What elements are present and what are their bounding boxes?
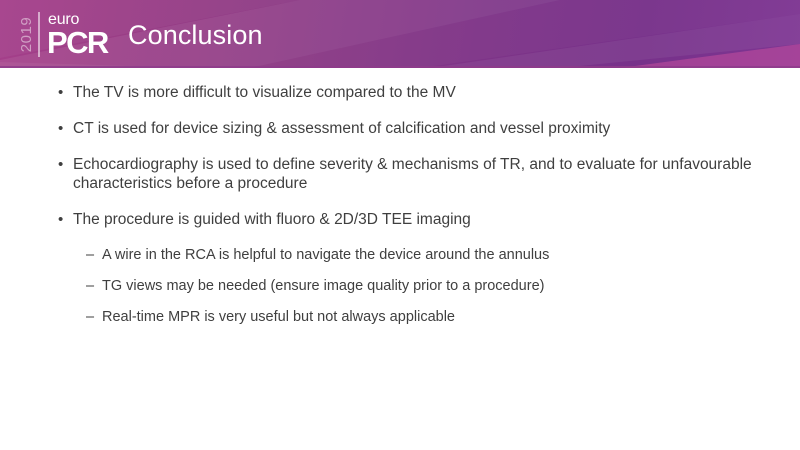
bullet-text: TG views may be needed (ensure image qua… xyxy=(102,277,758,295)
sub-bullet-item: –TG views may be needed (ensure image qu… xyxy=(86,277,758,295)
logo-year-label: 2019 xyxy=(18,16,35,51)
dash-marker-icon: – xyxy=(86,246,102,264)
sub-bullet-item: –Real-time MPR is very useful but not al… xyxy=(86,308,758,326)
logo-wordmark: euro PCR xyxy=(47,6,108,62)
logo-year: 2019 xyxy=(16,6,37,62)
slide-header-banner: 2019 euro PCR Conclusion xyxy=(0,0,800,68)
logo-pcr-text: PCR xyxy=(47,28,108,57)
bullet-text: Echocardiography is used to define sever… xyxy=(73,155,758,193)
bullet-text: The procedure is guided with fluoro & 2D… xyxy=(73,210,758,229)
bullet-text: A wire in the RCA is helpful to navigate… xyxy=(102,246,758,264)
bullet-item: •The TV is more difficult to visualize c… xyxy=(58,83,758,102)
bullet-marker-icon: • xyxy=(58,119,73,138)
bullet-item: •The procedure is guided with fluoro & 2… xyxy=(58,210,758,229)
bullet-marker-icon: • xyxy=(58,83,73,102)
bullet-marker-icon: • xyxy=(58,155,73,174)
bullet-text: CT is used for device sizing & assessmen… xyxy=(73,119,758,138)
bullet-list: •The TV is more difficult to visualize c… xyxy=(58,83,758,339)
bullet-marker-icon: • xyxy=(58,210,73,229)
europcr-logo: 2019 euro PCR xyxy=(16,6,108,62)
dash-marker-icon: – xyxy=(86,308,102,326)
logo-divider-rule xyxy=(38,12,40,57)
bullet-item: •CT is used for device sizing & assessme… xyxy=(58,119,758,138)
slide-title: Conclusion xyxy=(128,19,263,51)
dash-marker-icon: – xyxy=(86,277,102,295)
sub-bullet-item: –A wire in the RCA is helpful to navigat… xyxy=(86,246,758,264)
slide: 2019 euro PCR Conclusion •The TV is more… xyxy=(0,0,800,450)
header-facet-decoration xyxy=(0,0,800,68)
bullet-text: The TV is more difficult to visualize co… xyxy=(73,83,758,102)
bullet-text: Real-time MPR is very useful but not alw… xyxy=(102,308,758,326)
slide-body: •The TV is more difficult to visualize c… xyxy=(0,68,800,450)
bullet-item: •Echocardiography is used to define seve… xyxy=(58,155,758,193)
